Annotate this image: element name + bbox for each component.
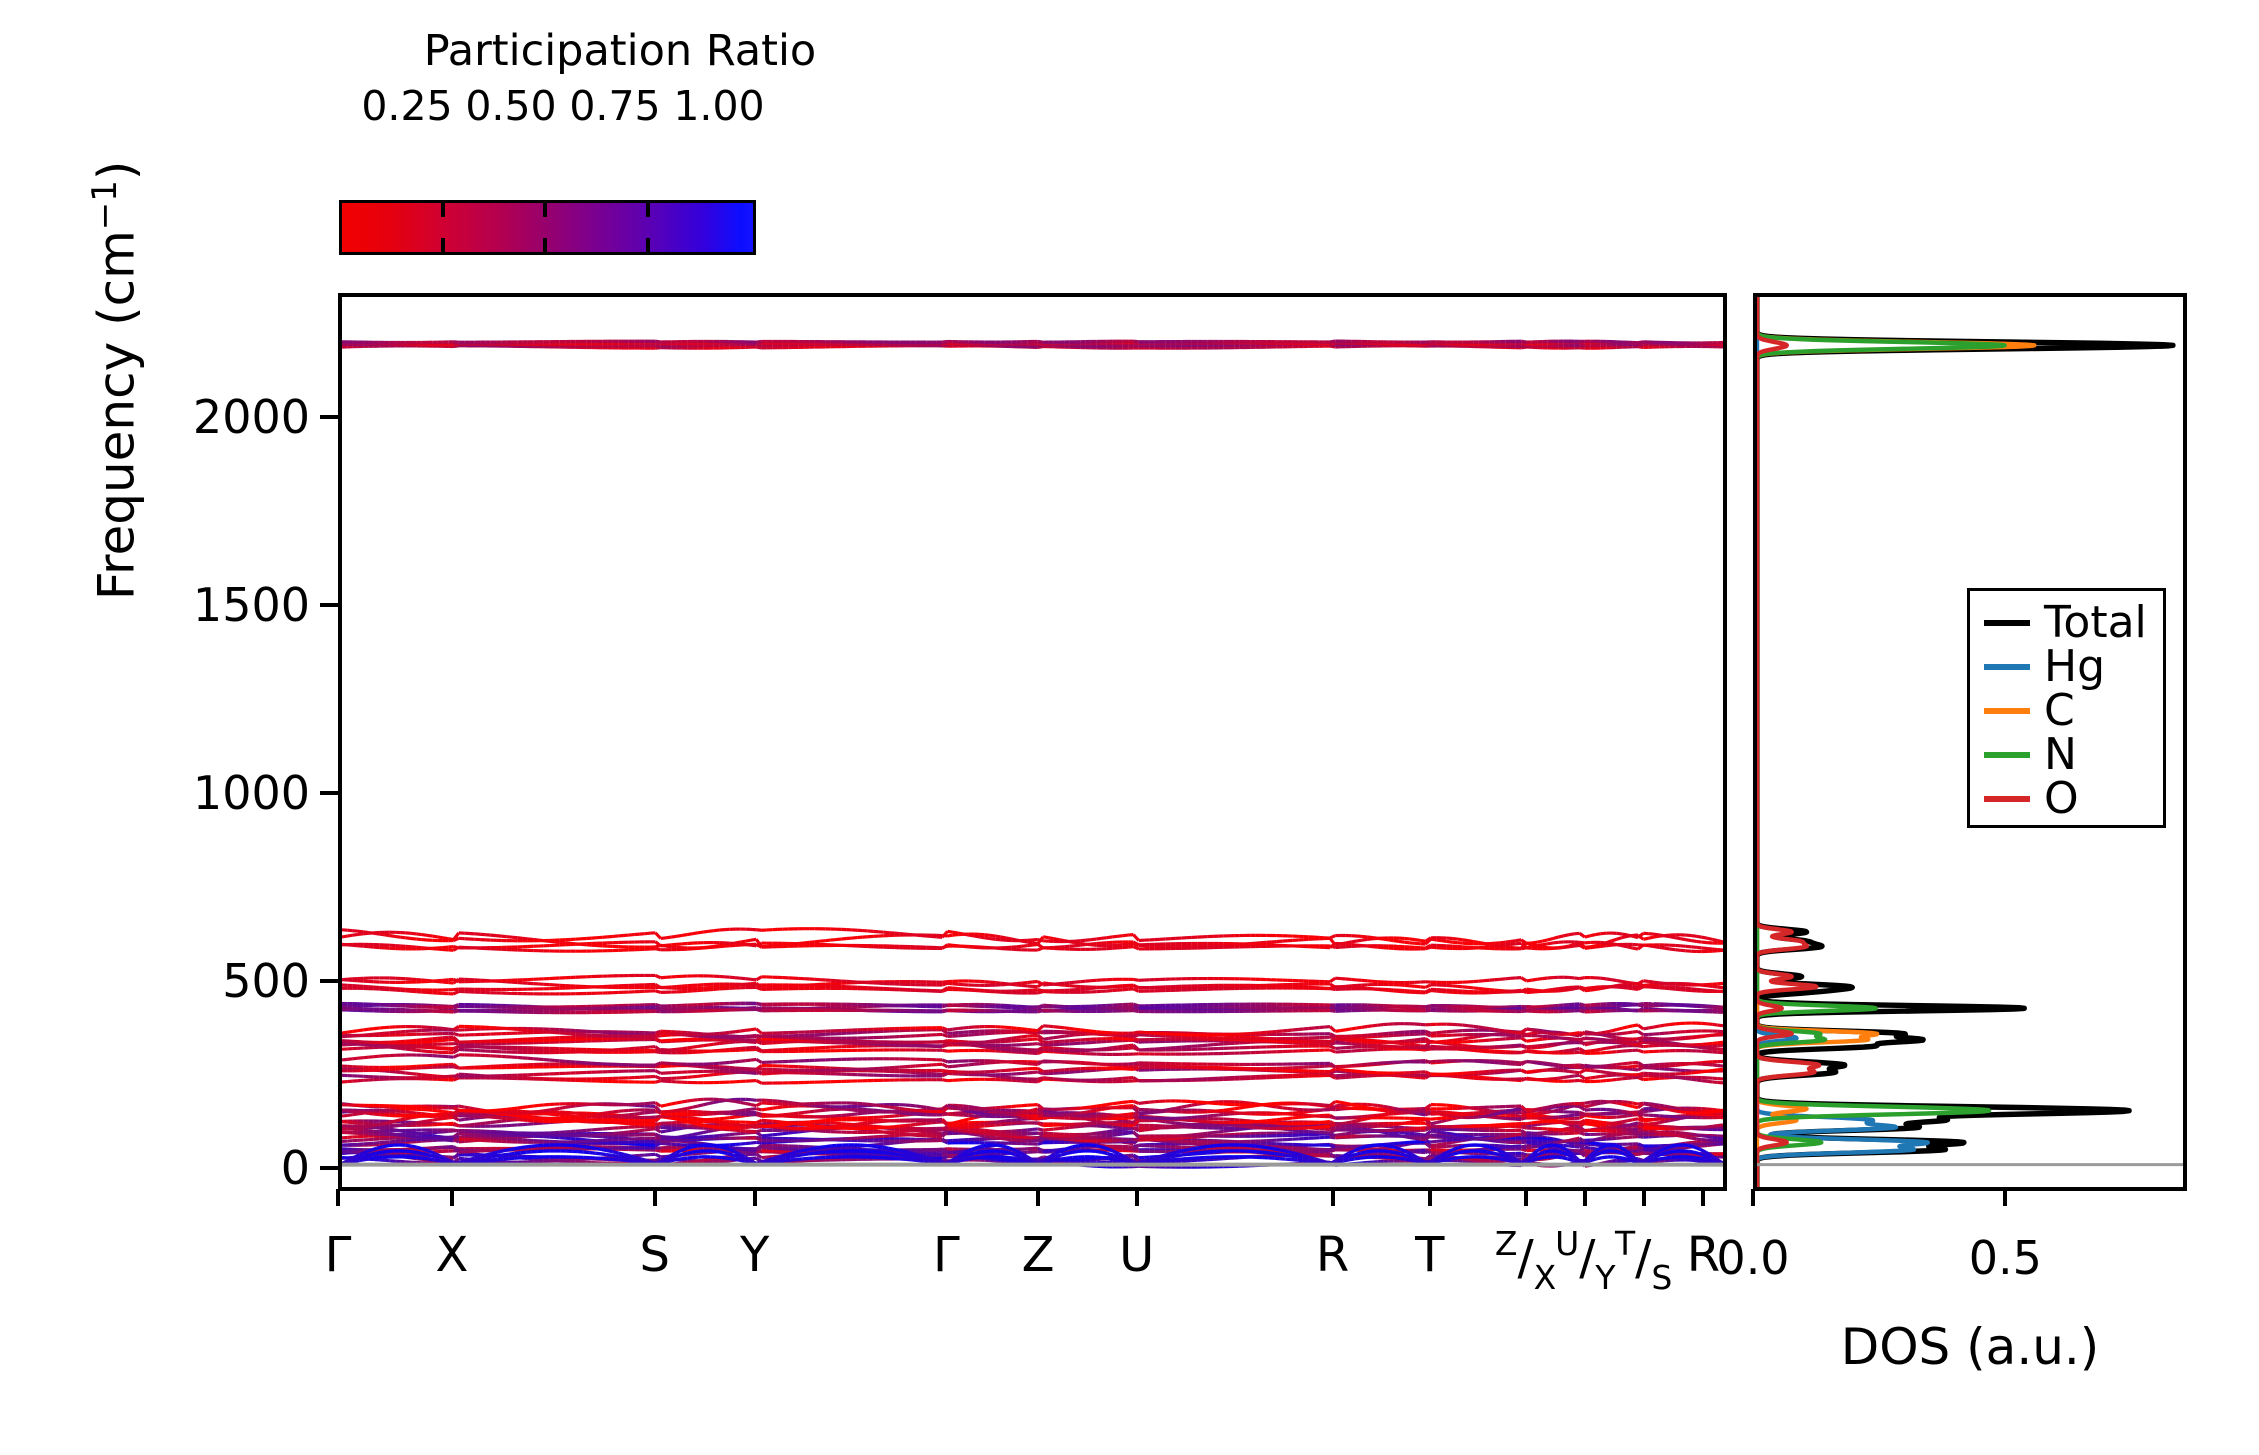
legend-label: C (2044, 689, 2075, 733)
y-axis-tick-mark (320, 791, 338, 795)
y-axis-tick-label: 500 (222, 954, 310, 1008)
legend-label: Hg (2044, 645, 2105, 689)
y-axis-tick-mark (320, 979, 338, 983)
colorbar-tick-labels: 0.25 0.50 0.75 1.00 (255, 82, 975, 126)
legend-label: O (2044, 777, 2079, 821)
y-axis-tick-label: 2000 (193, 390, 310, 444)
dos-x-tick-label: 0.5 (1969, 1231, 2042, 1285)
band-x-tick-label: S (639, 1231, 669, 1279)
band-x-axis-tick-mark (753, 1189, 757, 1206)
band-x-tick-label: Z/X (1495, 1231, 1556, 1292)
band-x-axis-tick-mark (1642, 1189, 1646, 1206)
y-axis-tick-mark (320, 1166, 338, 1170)
y-axis-tick-mark (320, 415, 338, 419)
band-x-tick-label: Y (740, 1231, 769, 1279)
dos-x-axis-tick-mark (2003, 1189, 2007, 1206)
colorbar-tick-label-1: 0.50 (465, 82, 556, 130)
colorbar-title: Participation Ratio (340, 28, 900, 75)
colorbar-tick-label-3: 1.00 (673, 82, 764, 130)
band-x-axis-tick-mark (336, 1189, 340, 1206)
y-axis-label: Frequency (cm−1) (85, 60, 146, 700)
colorbar-tick-mark (646, 238, 650, 252)
band-x-axis-tick-mark (1583, 1189, 1587, 1206)
y-axis-tick-mark (320, 603, 338, 607)
dos-x-axis-tick-mark (1751, 1189, 1755, 1206)
colorbar-tick-mark (543, 203, 547, 217)
legend-swatch-line (1984, 752, 2030, 758)
band-x-axis-tick-mark (1331, 1189, 1335, 1206)
band-structure-plot (342, 297, 1723, 1187)
colorbar-tick-mark (441, 203, 445, 217)
colorbar-tick-mark (441, 238, 445, 252)
dos-series-hg (1757, 297, 1928, 1187)
legend-item-total[interactable]: Total (1970, 601, 2163, 645)
legend-swatch-line (1984, 620, 2030, 626)
band-x-axis-tick-mark (1135, 1189, 1139, 1206)
band-x-axis-tick-mark (944, 1189, 948, 1206)
colorbar-tick-label-2: 0.75 (569, 82, 660, 130)
dos-x-axis-labels: 0.00.5 (1753, 1231, 2187, 1301)
figure-canvas: Participation Ratio 0.25 0.50 0.75 1.00 … (0, 0, 2259, 1455)
band-x-axis-tick-mark (653, 1189, 657, 1206)
participation-ratio-colorbar (339, 200, 756, 255)
band-x-axis-tick-mark (1524, 1189, 1528, 1206)
y-axis-tick-label: 1000 (193, 766, 310, 820)
band-x-axis-tick-mark (1701, 1189, 1705, 1206)
legend-swatch-line (1984, 796, 2030, 802)
band-x-tick-label: R (1687, 1231, 1720, 1279)
band-x-tick-label: Γ (325, 1231, 352, 1279)
dos-legend: Total Hg C N O (1967, 588, 2166, 828)
band-x-tick-label: T (1415, 1231, 1444, 1279)
legend-label: Total (2044, 601, 2147, 645)
legend-label: N (2044, 733, 2077, 777)
legend-item-o[interactable]: O (1970, 777, 2163, 821)
band-x-axis-labels: ΓXSYΓZURTZ/XU/YT/SR (338, 1231, 1727, 1331)
dos-axis-title: DOS (a.u.) (1753, 1318, 2187, 1376)
legend-item-c[interactable]: C (1970, 689, 2163, 733)
dos-x-tick-label: 0.0 (1716, 1231, 1789, 1285)
colorbar-tick-label-0: 0.25 (361, 82, 452, 130)
colorbar-tick-mark (543, 238, 547, 252)
band-x-tick-label: U/Y (1555, 1231, 1616, 1292)
legend-item-hg[interactable]: Hg (1970, 645, 2163, 689)
band-x-tick-label: R (1316, 1231, 1349, 1279)
y-axis-tick-label: 1500 (193, 578, 310, 632)
band-x-axis-tick-mark (1428, 1189, 1432, 1206)
band-x-tick-label: X (435, 1231, 468, 1279)
legend-swatch-line (1984, 664, 2030, 670)
y-axis-tick-label: 0 (281, 1141, 310, 1195)
band-x-tick-label: T/S (1615, 1231, 1672, 1292)
band-x-tick-label: U (1119, 1231, 1154, 1279)
colorbar-gradient (342, 203, 753, 252)
band-x-axis-tick-mark (450, 1189, 454, 1206)
legend-item-n[interactable]: N (1970, 733, 2163, 777)
colorbar-tick-mark (646, 203, 650, 217)
band-x-tick-label: Γ (933, 1231, 960, 1279)
legend-swatch-line (1984, 708, 2030, 714)
y-axis-label-text: Frequency (cm−1) (87, 161, 145, 601)
band-x-axis-tick-mark (1036, 1189, 1040, 1206)
band-structure-axes (338, 293, 1727, 1191)
band-x-tick-label: Z (1022, 1231, 1055, 1279)
